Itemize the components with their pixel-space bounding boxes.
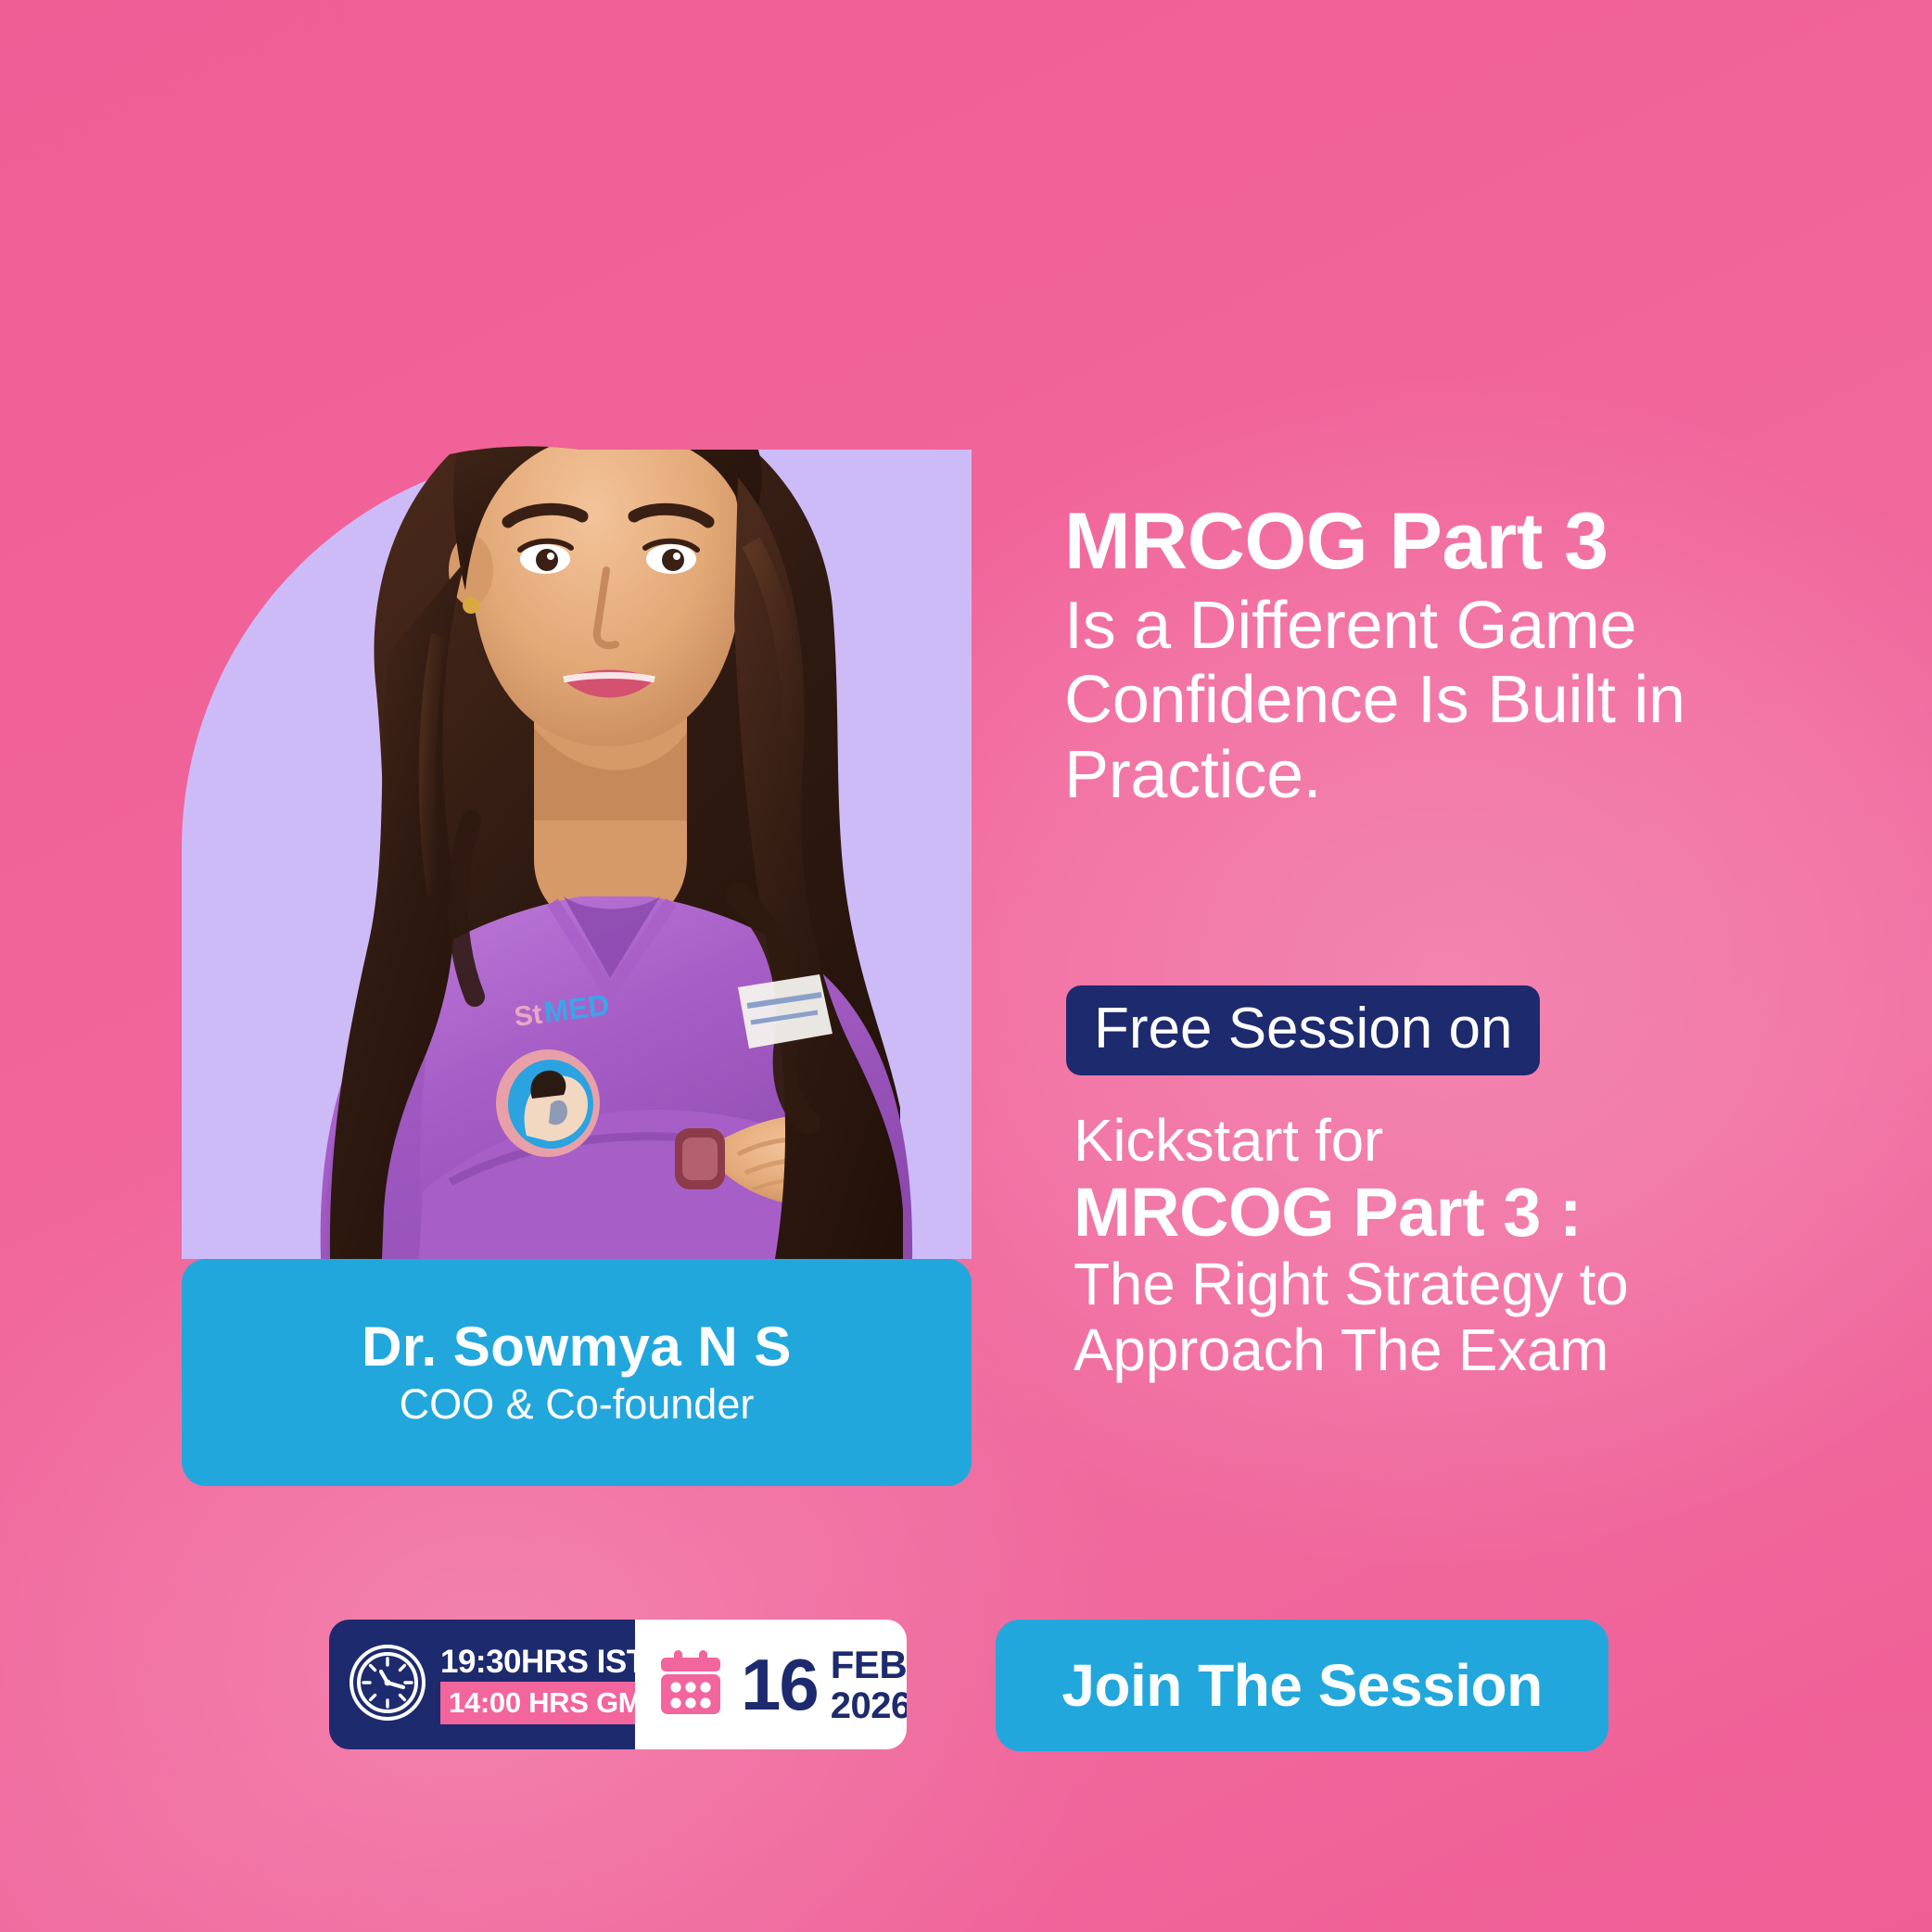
session-title-line-3: The Right Strategy to — [1074, 1252, 1926, 1318]
session-title-block: Kickstart for MRCOG Part 3 : The Right S… — [1074, 1108, 1926, 1384]
event-month-year: FEB 2026 — [831, 1646, 907, 1724]
speaker-role: COO & Co-founder — [400, 1381, 755, 1428]
clock-icon — [348, 1643, 427, 1727]
speaker-photo-panel: St MED — [182, 450, 972, 1259]
headline-line-4: Practice. — [1064, 738, 1899, 813]
session-title-line-2: MRCOG Part 3 : — [1074, 1175, 1926, 1252]
speaker-name: Dr. Sowmya N S — [362, 1317, 792, 1376]
scrubs-logo-emblem — [496, 1049, 600, 1157]
headline-line-3: Confidence Is Built in — [1064, 663, 1899, 738]
speaker-info-card: Dr. Sowmya N S COO & Co-founder — [182, 1259, 972, 1486]
time-labels: 19:30HRS IST 14:00 HRS GMT — [440, 1646, 667, 1724]
time-gmt: 14:00 HRS GMT — [440, 1682, 667, 1724]
schedule-badge: 19:30HRS IST 14:00 HRS GMT — [329, 1620, 907, 1749]
webinar-promo-poster: St MED Dr. Sowmya N S COO & Co-founder M… — [0, 0, 1932, 1932]
headline-subtext: Is a Different Game Confidence Is Built … — [1064, 589, 1899, 813]
event-day: 16 — [741, 1648, 818, 1721]
time-ist: 19:30HRS IST — [440, 1646, 667, 1678]
headline-block: MRCOG Part 3 Is a Different Game Confide… — [1064, 501, 1899, 812]
session-title-line-4: Approach The Exam — [1074, 1317, 1926, 1384]
event-month: FEB — [831, 1646, 907, 1684]
schedule-time-section: 19:30HRS IST 14:00 HRS GMT — [329, 1620, 635, 1749]
join-session-button[interactable]: Join The Session — [996, 1620, 1608, 1751]
schedule-date-section: 16 FEB 2026 — [635, 1620, 907, 1749]
event-year: 2026 — [831, 1687, 907, 1724]
headline-line-2: Is a Different Game — [1064, 589, 1899, 664]
free-session-badge: Free Session on — [1066, 985, 1540, 1075]
session-title-line-1: Kickstart for — [1074, 1108, 1926, 1175]
headline-line-1: MRCOG Part 3 — [1064, 501, 1899, 583]
speaker-photo: St MED — [145, 172, 979, 1275]
calendar-icon — [654, 1646, 728, 1724]
svg-text:St: St — [513, 999, 544, 1033]
